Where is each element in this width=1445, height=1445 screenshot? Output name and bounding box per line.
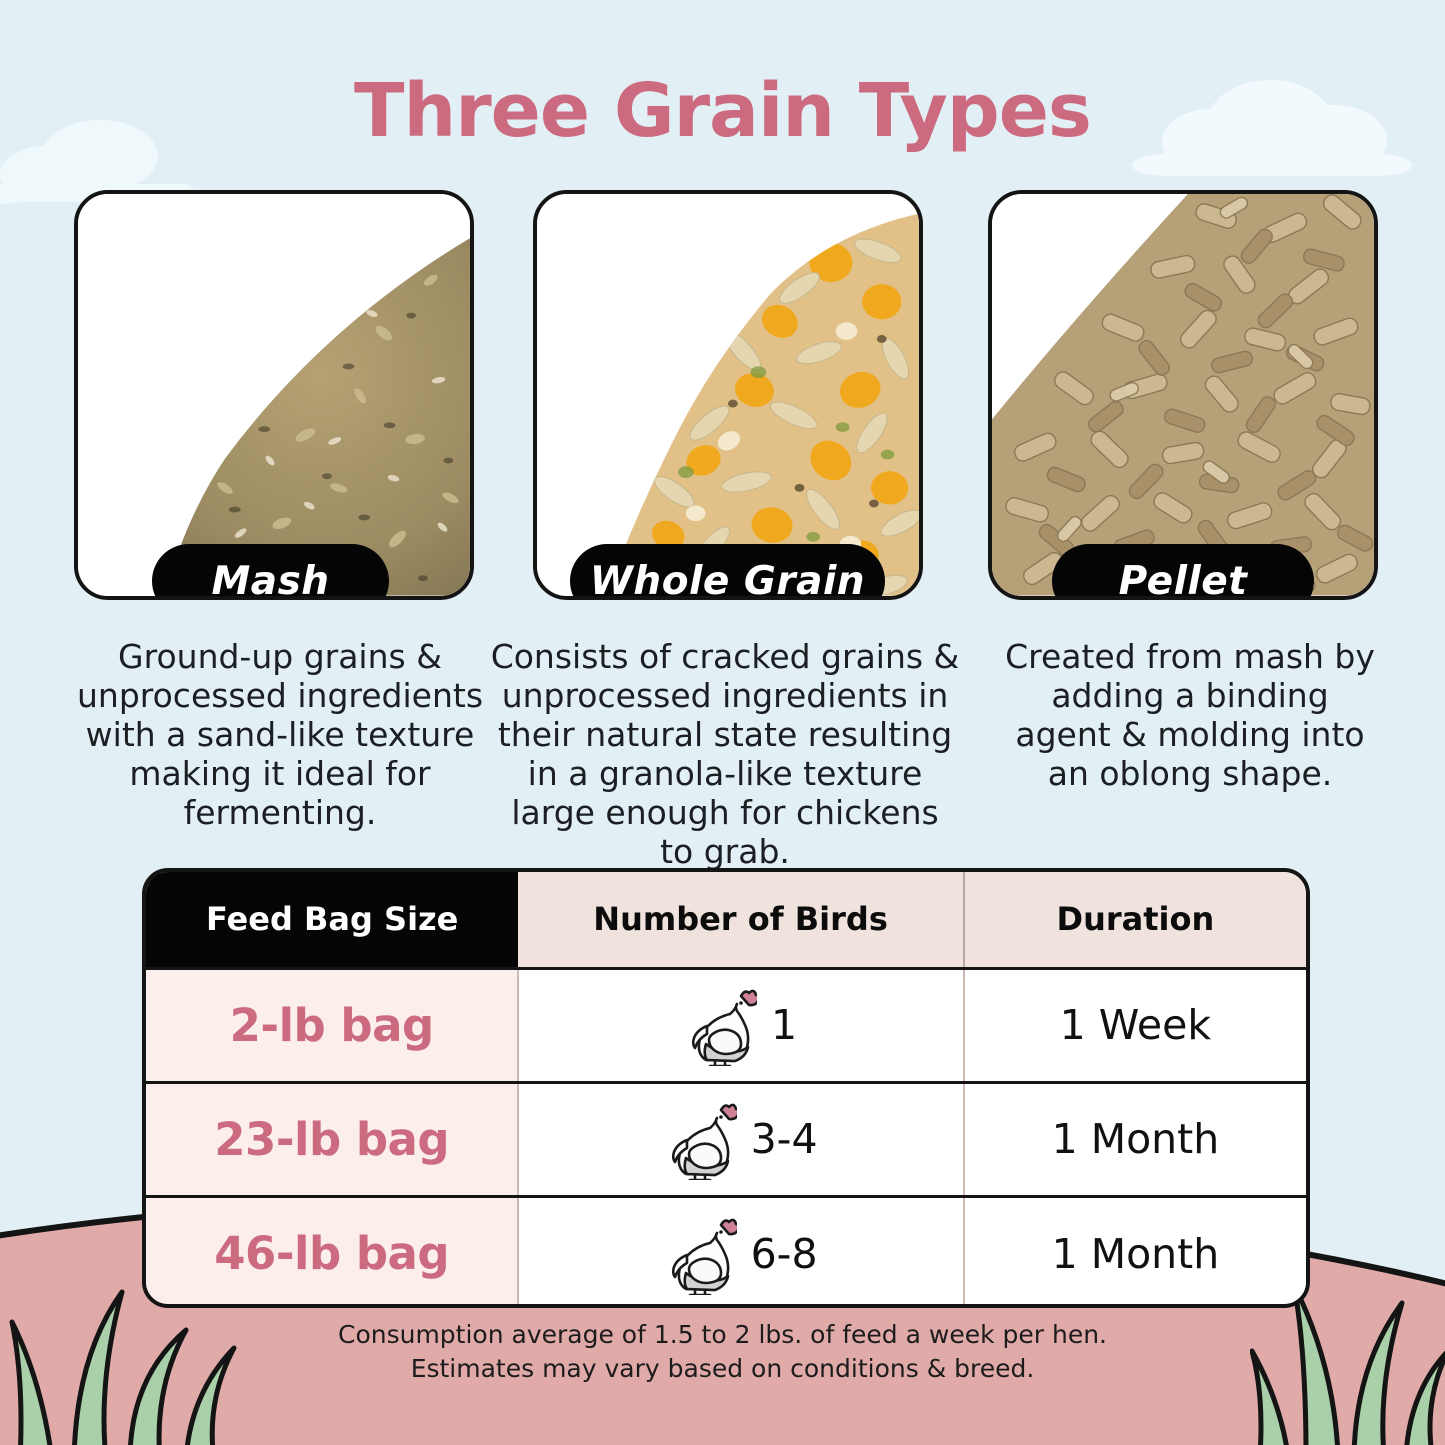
card-label-text: Mash: [211, 559, 329, 601]
card-label-pill: Pellet: [1052, 544, 1314, 600]
footnote: Consumption average of 1.5 to 2 lbs. of …: [0, 1318, 1445, 1386]
table-row: 46-lb bag: [146, 1196, 1306, 1308]
column-header-number-of-birds: Number of Birds: [518, 872, 963, 968]
cell-number-of-birds: 1: [518, 968, 963, 1082]
table-row: 23-lb bag: [146, 1082, 1306, 1196]
table-row: 2-lb bag: [146, 968, 1306, 1082]
card-label-pill: Mash: [152, 544, 389, 600]
footnote-line-2: Estimates may vary based on conditions &…: [0, 1352, 1445, 1386]
bird-count-text: 3-4: [751, 1115, 818, 1163]
page-title: Three Grain Types: [0, 68, 1445, 154]
infographic-canvas: Three Grain Types: [0, 0, 1445, 1445]
table-header-row: Feed Bag Size Number of Birds Duration: [146, 872, 1306, 968]
cell-duration: 1 Week: [964, 968, 1306, 1082]
pellet-photo: [992, 194, 1374, 596]
cell-number-of-birds: 6-8: [518, 1196, 963, 1308]
cell-duration: 1 Month: [964, 1196, 1306, 1308]
grain-card-mash: Mash: [74, 190, 474, 600]
grain-description-mash: Ground-up grains & unprocessed ingredien…: [60, 638, 500, 833]
whole-grain-photo: [537, 194, 919, 596]
feed-table: Feed Bag Size Number of Birds Duration 2…: [142, 868, 1310, 1308]
hen-icon: [665, 1213, 737, 1295]
grain-description-whole-grain: Consists of cracked grains & unprocessed…: [490, 638, 960, 872]
cell-number-of-birds: 3-4: [518, 1082, 963, 1196]
card-label-text: Pellet: [1119, 559, 1248, 601]
card-label-text: Whole Grain: [590, 559, 865, 601]
cell-feed-bag-size: 23-lb bag: [146, 1082, 518, 1196]
card-label-pill: Whole Grain: [570, 544, 885, 600]
cell-duration: 1 Month: [964, 1082, 1306, 1196]
cell-feed-bag-size: 2-lb bag: [146, 968, 518, 1082]
grain-description-pellet: Created from mash by adding a binding ag…: [1000, 638, 1380, 794]
column-header-feed-bag-size: Feed Bag Size: [146, 872, 518, 968]
grain-card-whole-grain: Whole Grain: [533, 190, 923, 600]
cell-feed-bag-size: 46-lb bag: [146, 1196, 518, 1308]
hen-icon: [685, 984, 757, 1066]
bird-count-text: 6-8: [751, 1230, 818, 1278]
footnote-line-1: Consumption average of 1.5 to 2 lbs. of …: [0, 1318, 1445, 1352]
grain-card-pellet: Pellet: [988, 190, 1378, 600]
mash-photo: [78, 194, 470, 596]
column-header-duration: Duration: [964, 872, 1306, 968]
bird-count-text: 1: [771, 1001, 797, 1049]
hen-icon: [665, 1098, 737, 1180]
